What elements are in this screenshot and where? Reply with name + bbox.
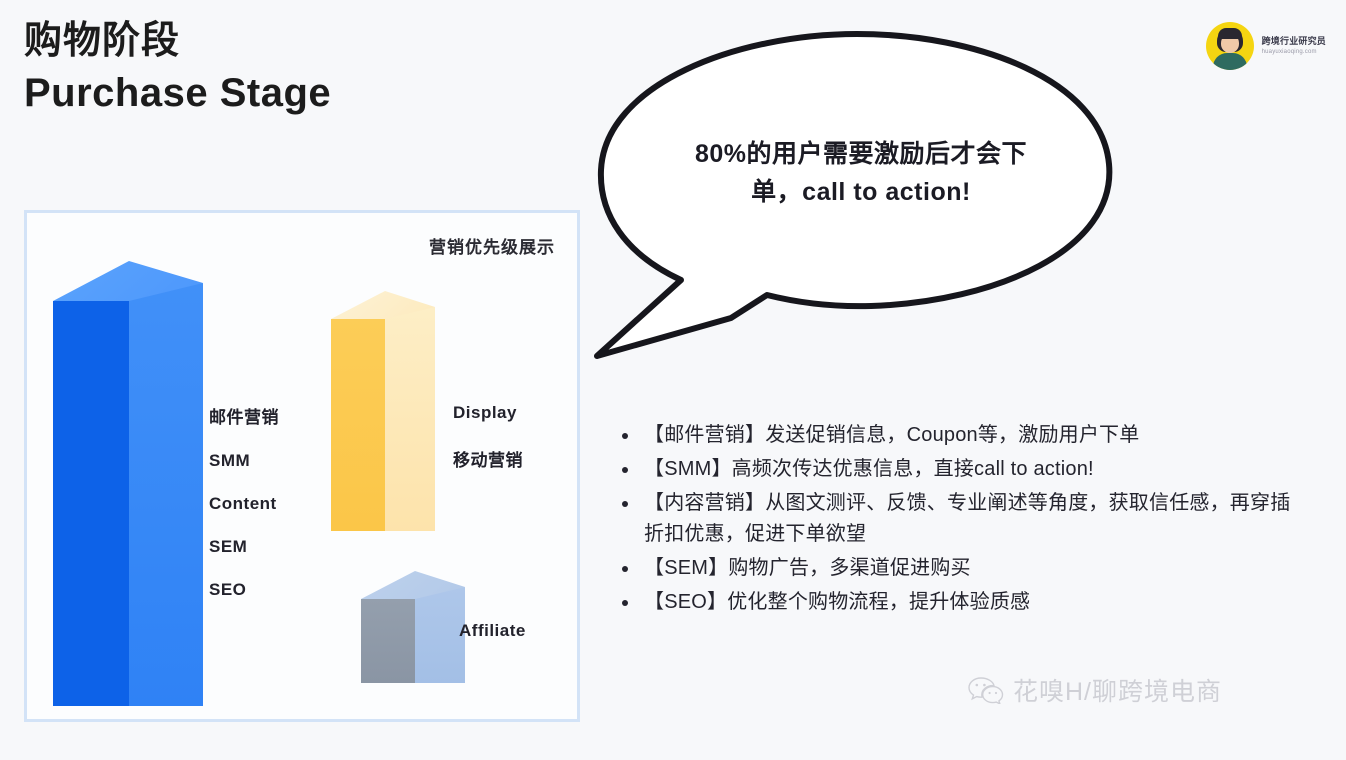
bar-label-group-low: Affiliate [459,621,526,641]
list-item: 【SEO】优化整个购物流程，提升体验质感 [612,587,1302,618]
chart-title: 营销优先级展示 [429,233,555,258]
bubble-line-2: 单，call to action! [637,174,1085,212]
bar-side-face [385,307,435,531]
watermark: 花嗅H/聊跨境电商 [968,672,1222,708]
avatar-body-shape [1213,53,1247,70]
badge-name: 跨境行业研究员 [1262,37,1326,47]
list-item: 【内容营销】从图文测评、反馈、专业阐述等角度，获取信任感，再穿插折扣优惠，促进下… [612,488,1302,550]
author-badge: 跨境行业研究员 huayuxiaoqing.com [1206,22,1326,70]
bar-label: 邮件营销 [209,403,279,428]
bar-label-group-medium: Display 移动营销 [453,403,523,471]
list-item: 【SMM】高频次传达优惠信息，直接call to action! [612,454,1302,485]
wechat-icon [968,676,1004,704]
bar-high-priority [53,261,203,706]
avatar [1206,22,1254,70]
bar-label: Display [453,403,523,423]
title-english: Purchase Stage [24,70,331,116]
bubble-line-1: 80%的用户需要激励后才会下 [637,136,1085,174]
bar-side-face [415,587,465,683]
watermark-text: 花嗅H/聊跨境电商 [1013,672,1222,708]
bar-medium-priority [331,291,435,531]
bar-label: 移动营销 [453,446,523,471]
bar-front-face [53,301,129,706]
title-chinese: 购物阶段 [24,20,331,64]
bar-front-face [331,319,385,531]
slide-canvas: 购物阶段 Purchase Stage 跨境行业研究员 huayuxiaoqin… [0,0,1346,760]
bar-low-priority [361,571,465,683]
bar-label: Affiliate [459,621,526,641]
page-title: 购物阶段 Purchase Stage [24,20,331,116]
list-item: 【邮件营销】发送促销信息，Coupon等，激励用户下单 [612,420,1302,451]
bar-label: Content [209,494,279,514]
bar-label-group-high: 邮件营销 SMM Content SEM SEO [209,403,279,600]
speech-bubble-text: 80%的用户需要激励后才会下 单，call to action! [637,136,1085,211]
badge-text: 跨境行业研究员 huayuxiaoqing.com [1262,37,1326,55]
bullet-list: 【邮件营销】发送促销信息，Coupon等，激励用户下单 【SMM】高频次传达优惠… [612,420,1302,621]
speech-bubble: 80%的用户需要激励后才会下 单，call to action! [585,18,1130,368]
chart-panel: 营销优先级展示 邮件营销 SMM Content SEM SEO Display… [24,210,580,722]
bar-label: SEM [209,537,279,557]
bar-label: SMM [209,451,279,471]
bar-front-face [361,599,415,683]
list-item: 【SEM】购物广告，多渠道促进购买 [612,553,1302,584]
badge-site: huayuxiaoqing.com [1262,49,1326,56]
avatar-fringe-shape [1218,28,1242,39]
bar-label: SEO [209,580,279,600]
bar-side-face [129,283,203,706]
